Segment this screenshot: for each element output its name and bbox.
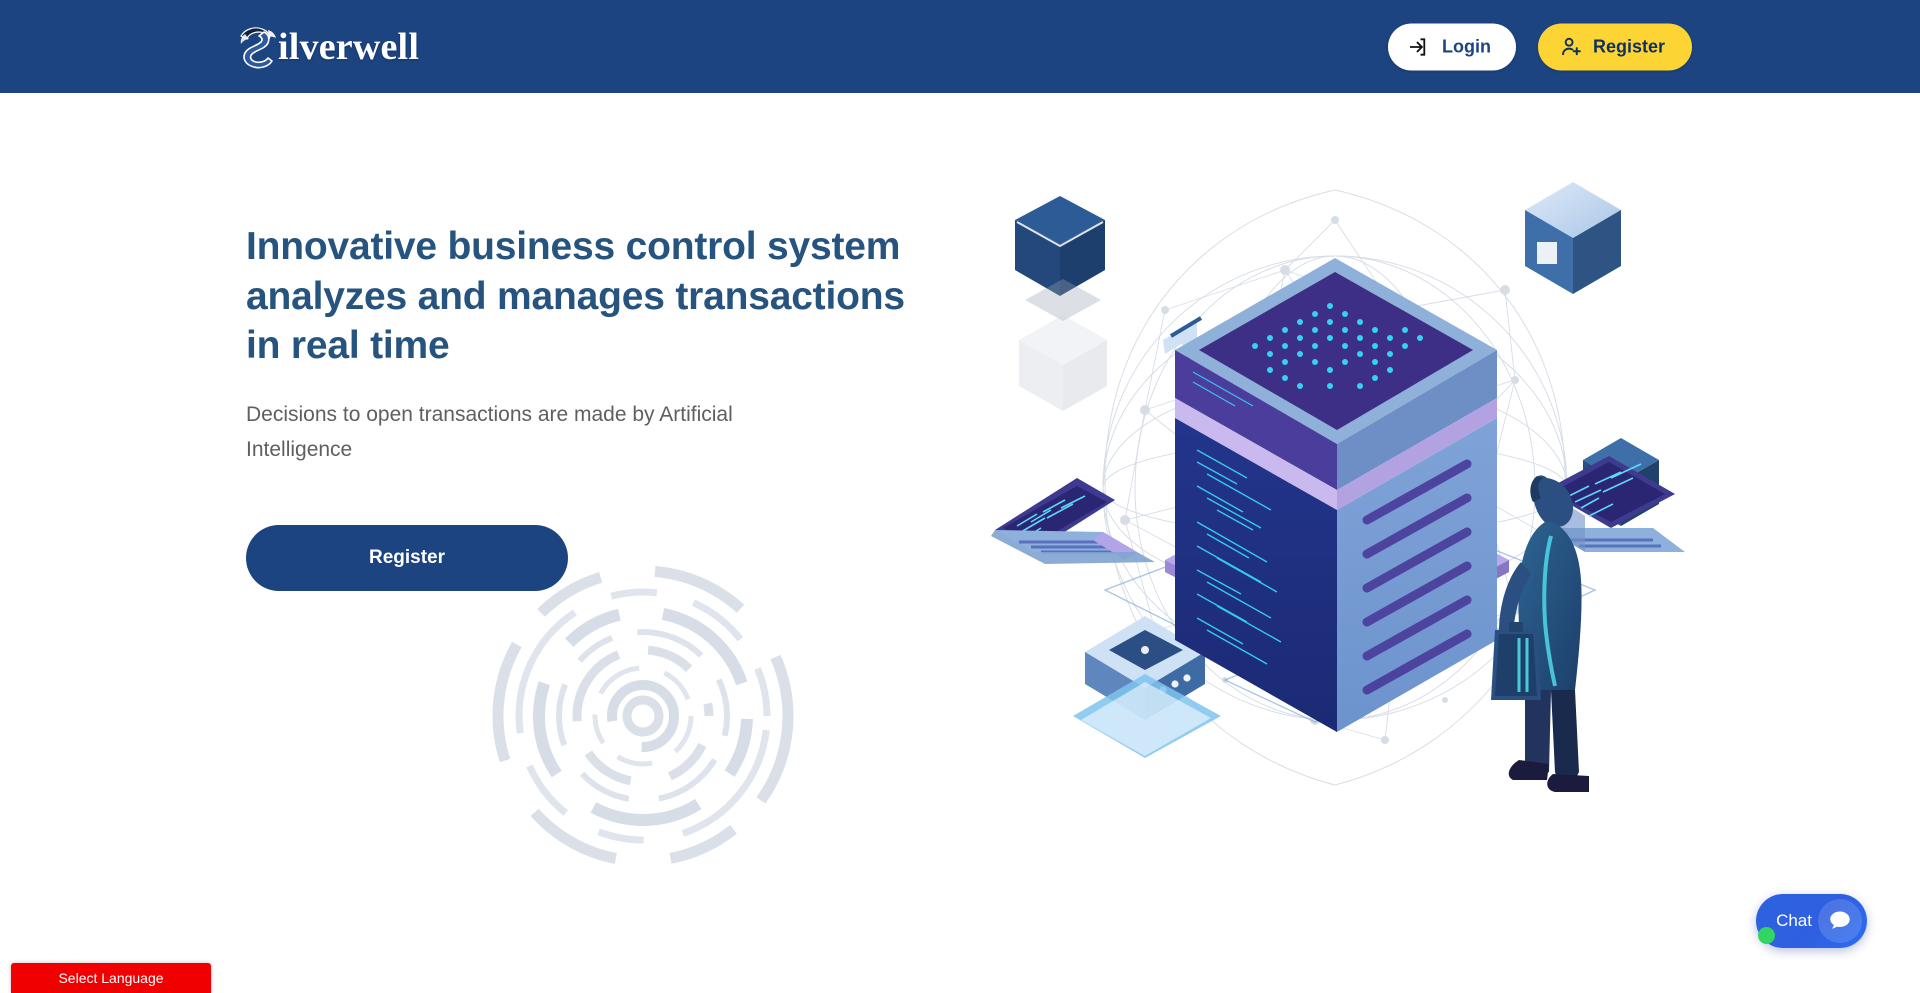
hero-subheadline: Decisions to open transactions are made … xyxy=(246,397,821,468)
login-arrow-icon xyxy=(1408,35,1431,58)
server-rack-icon xyxy=(1175,258,1497,732)
login-button[interactable]: Login xyxy=(1388,23,1516,70)
register-button-hero[interactable]: Register xyxy=(246,525,568,591)
floating-cube-shadow-mid xyxy=(1025,279,1101,321)
landing-page: ilverwell Login Register Innovat xyxy=(0,0,1920,993)
floating-cube-right-icon xyxy=(1583,438,1659,526)
login-button-label: Login xyxy=(1442,36,1491,57)
processor-chip-right-icon xyxy=(1403,532,1509,600)
user-plus-icon xyxy=(1560,35,1583,58)
language-selector-label: Select Language xyxy=(58,970,163,986)
floating-cube-light-icon xyxy=(1019,315,1107,411)
chat-online-status-dot xyxy=(1758,927,1775,944)
floating-cube-top-right-icon xyxy=(1525,182,1621,294)
laptop-with-code-right-icon xyxy=(1545,456,1685,552)
hero-illustration xyxy=(985,160,1685,820)
floor-connections xyxy=(1105,550,1595,722)
language-selector[interactable]: Select Language xyxy=(11,963,211,993)
chat-widget-label: Chat xyxy=(1776,911,1812,931)
hero-text-block: Innovative business control system analy… xyxy=(246,222,926,591)
site-header: ilverwell Login Register xyxy=(0,0,1920,93)
speech-bubble-icon xyxy=(1827,908,1853,934)
chat-widget[interactable]: Chat xyxy=(1756,894,1867,948)
brand-logo[interactable]: ilverwell xyxy=(238,24,419,70)
header-actions: Login Register xyxy=(1388,23,1692,70)
businessman-with-briefcase-icon xyxy=(1491,475,1589,792)
brand-name: ilverwell xyxy=(278,28,419,66)
arrow-marker-icon xyxy=(1163,318,1201,376)
tech-circle-ornament xyxy=(492,565,794,867)
register-button-header-label: Register xyxy=(1593,36,1665,57)
hero-headline: Innovative business control system analy… xyxy=(246,222,914,371)
floating-cube-navy-icon xyxy=(1015,196,1105,296)
silverwell-s-logo-icon xyxy=(238,24,280,70)
network-globe-icon xyxy=(1103,190,1567,785)
chat-bubble-wrapper xyxy=(1818,899,1862,943)
register-button-hero-label: Register xyxy=(369,547,445,569)
router-device-icon xyxy=(1073,616,1221,758)
register-button-header[interactable]: Register xyxy=(1538,23,1692,70)
processor-chip-left-icon xyxy=(1165,532,1271,600)
laptop-with-code-left-icon xyxy=(991,478,1155,564)
